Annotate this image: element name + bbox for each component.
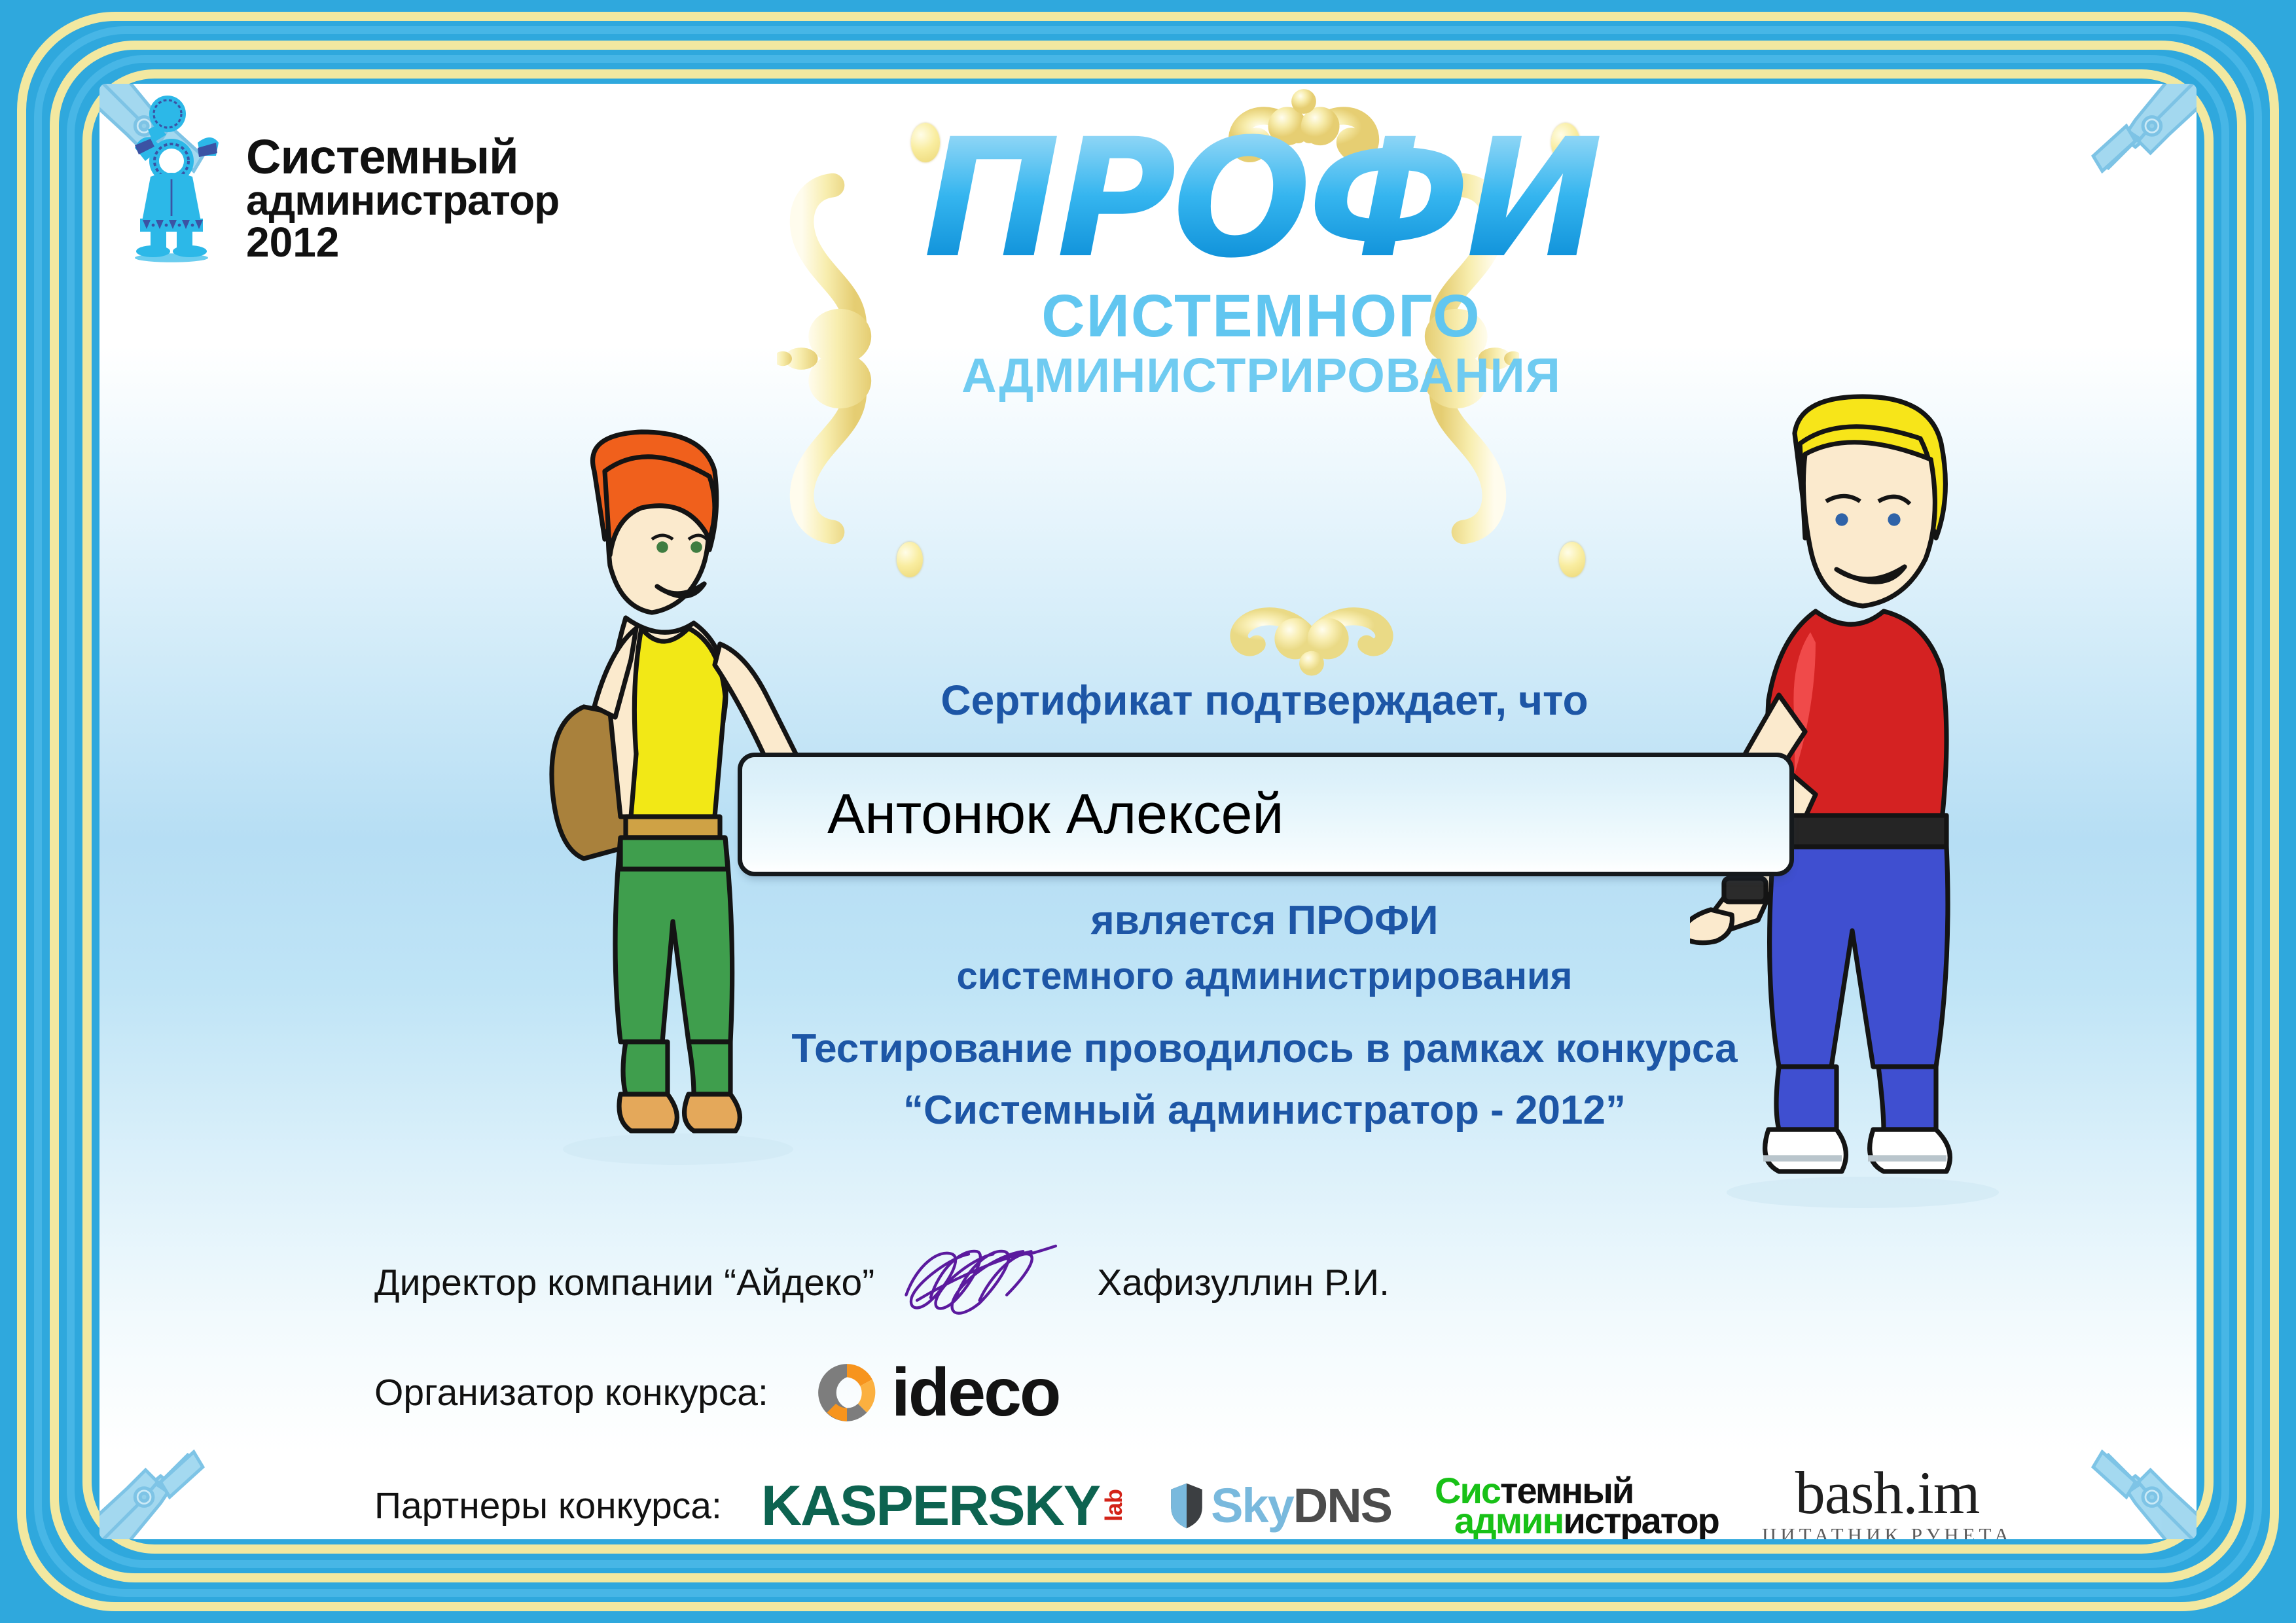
page-title: ПРОФИ (829, 121, 1693, 277)
sysadmin-logo: Системный администратор (1435, 1476, 1719, 1536)
pliers-icon (2072, 84, 2197, 204)
pliers-icon (99, 1419, 224, 1539)
brand-line-2: администратор (246, 179, 559, 221)
brand-line-1: Системный (246, 135, 559, 179)
bashim-tagline: ЦИТАТНИК РУНЕТА (1762, 1524, 2013, 1539)
skydns-dns-text: DNS (1293, 1482, 1391, 1530)
director-label: Директор компании “Айдеко” (374, 1261, 874, 1304)
body-line-4: “Системный администратор - 2012” (689, 1082, 1840, 1139)
body-line-2: системного администрирования (689, 950, 1840, 1003)
handwritten-signature-icon (898, 1240, 1075, 1325)
partner-logo-list: KASPERSKY lab Sky DNS Системный (761, 1465, 2056, 1539)
certificate-page: Системный администратор 2012 (99, 84, 2197, 1539)
brand-line-3: 2012 (246, 221, 559, 263)
recipient-name: Антонюк Алексей (742, 782, 1283, 847)
kaspersky-wordmark: KASPERSKY (761, 1478, 1100, 1534)
shield-icon (1169, 1482, 1204, 1530)
skydns-sky-text: Sky (1211, 1482, 1293, 1530)
director-name: Хафизуллин Р.И. (1097, 1261, 1390, 1304)
gold-dot-icon (1559, 542, 1585, 577)
body-text-block: является ПРОФИ системного администрирова… (689, 892, 1840, 1139)
partners-label: Партнеры конкурса: (374, 1484, 722, 1527)
confirmation-text: Сертификат подтверждает, что (741, 676, 1788, 724)
gold-flourish-icon (1174, 597, 1449, 683)
ideco-logo: ideco (812, 1357, 1060, 1428)
kaspersky-lab-text: lab (1102, 1489, 1126, 1522)
director-signature-row: Директор компании “Айдеко” Хафизуллин Р.… (374, 1237, 1683, 1329)
certificate: Системный администратор 2012 (0, 0, 2296, 1623)
brand-logo: Системный администратор 2012 (106, 96, 695, 292)
headline-block: ПРОФИ СИСТЕМНОГО АДМИНИСТРИРОВАНИЯ (829, 87, 1693, 401)
bashim-logo: bash.im ЦИТАТНИК РУНЕТА (1762, 1465, 2013, 1539)
body-line-3: Тестирование проводилось в рамках конкур… (689, 1020, 1840, 1078)
body-line-1: является ПРОФИ (689, 892, 1840, 950)
headline-subtitle-2: АДМИНИСТРИРОВАНИЯ (829, 350, 1693, 401)
ideco-wordmark: ideco (891, 1359, 1060, 1427)
eskimo-mascot-icon (106, 96, 237, 266)
gold-dot-icon (897, 542, 923, 577)
organizer-row: Организатор конкурса: ideco (374, 1347, 1291, 1438)
organizer-label: Организатор конкурса: (374, 1371, 768, 1414)
sysadmin-green-2: админ (1454, 1500, 1563, 1539)
kaspersky-logo: KASPERSKY lab (761, 1478, 1126, 1534)
recipient-nameplate: Антонюк Алексей (738, 753, 1794, 876)
sysadmin-black-2: истратор (1563, 1500, 1718, 1539)
bashim-wordmark: bash.im (1762, 1465, 2013, 1522)
skydns-logo: Sky DNS (1169, 1482, 1391, 1530)
ideco-mark-icon (812, 1357, 882, 1428)
partners-row: Партнеры конкурса: KASPERSKY lab Sky DNS (374, 1463, 2197, 1539)
